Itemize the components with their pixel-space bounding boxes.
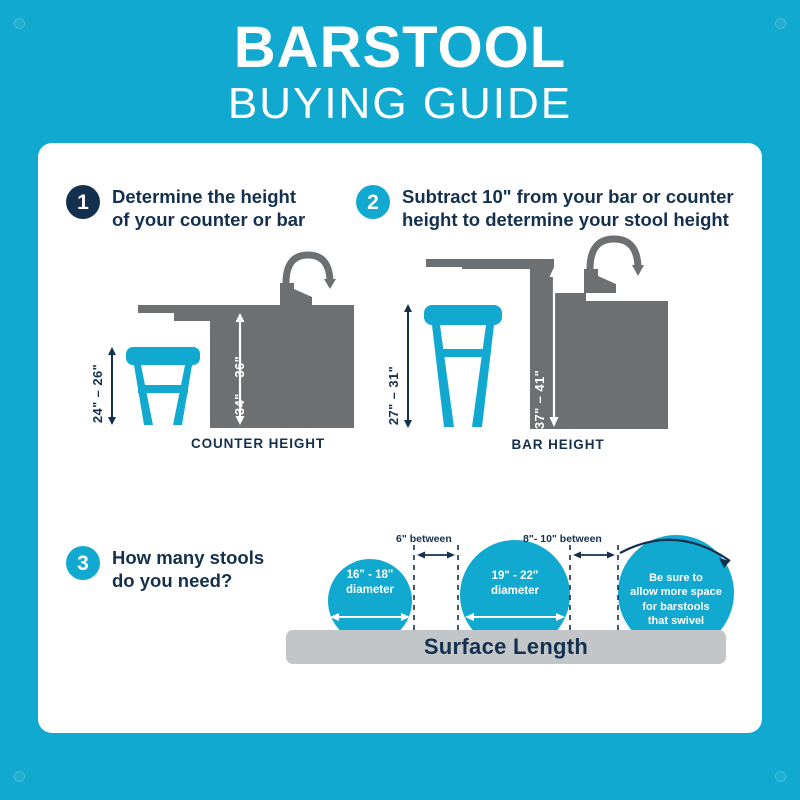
content-card: 1 Determine the height of your counter o… [38,143,762,733]
counter-height-diagram [98,243,398,463]
header: BARSTOOL BUYING GUIDE [0,18,800,130]
swivel-note: Be sure to allow more space for barstool… [622,571,730,628]
stool-dim-arrow-top-2 [404,304,412,312]
counter-surface-dimension-label: 34" – 36" [232,356,247,415]
infographic-page: BARSTOOL BUYING GUIDE 1 Determine the he… [0,0,800,800]
bar-stool-icon [424,305,502,427]
footprint-label-2: 19" - 22" diameter [475,569,555,598]
bar-surface-dimension-label: 37" – 41" [532,370,547,429]
step-3-text: How many stools do you need? [112,547,264,592]
faucet-spout-icon [286,255,330,283]
step-3-header: 3 How many stools do you need? [66,546,346,592]
page-title-main: BARSTOOL [0,18,800,77]
gap-arrow-1-left [417,552,425,559]
surface-length-label: Surface Length [286,630,726,664]
step-1-text: Determine the height of your counter or … [112,186,305,231]
step-1-badge: 1 [66,185,100,219]
stool-dim-arrow-bottom-1 [108,417,116,425]
step-2-badge: 2 [356,185,390,219]
gap-arrow-1-right [447,552,455,559]
footprint-label-1: 16" - 18" diameter [330,568,410,597]
bar-stool-dimension-label: 27" – 31" [386,366,401,425]
gap-label-1: 6" between [396,533,452,545]
corner-bolt-bottom-right [775,771,786,782]
stool-dim-arrow-top-1 [108,347,116,355]
bar-faucet-handle-icon [598,276,616,293]
counter-stool-dimension-label: 24" – 26" [90,364,105,423]
bar-faucet-spout-tip-icon [632,265,644,276]
step-3-badge: 3 [66,546,100,580]
faucet-base-icon [280,283,294,305]
surface-length-bar: Surface Length [286,630,726,664]
faucet-spout-tip-icon [324,279,336,289]
gap-arrow-2-left [573,552,581,559]
page-title-sub: BUYING GUIDE [0,79,800,130]
bar-height-caption: BAR HEIGHT [468,437,648,452]
bar-faucet-spout-icon [590,239,638,269]
gap-arrow-2-right [607,552,615,559]
stool-dim-arrow-bottom-2 [404,420,412,428]
corner-bolt-bottom-left [14,771,25,782]
bar-faucet-base-icon [584,269,598,293]
faucet-handle-icon [294,289,312,305]
step-1-header: 1 Determine the height of your counter o… [66,185,366,231]
counter-stool-icon [126,347,200,425]
gap-label-2: 8"- 10" between [523,533,602,545]
counter-height-caption: COUNTER HEIGHT [168,436,348,451]
